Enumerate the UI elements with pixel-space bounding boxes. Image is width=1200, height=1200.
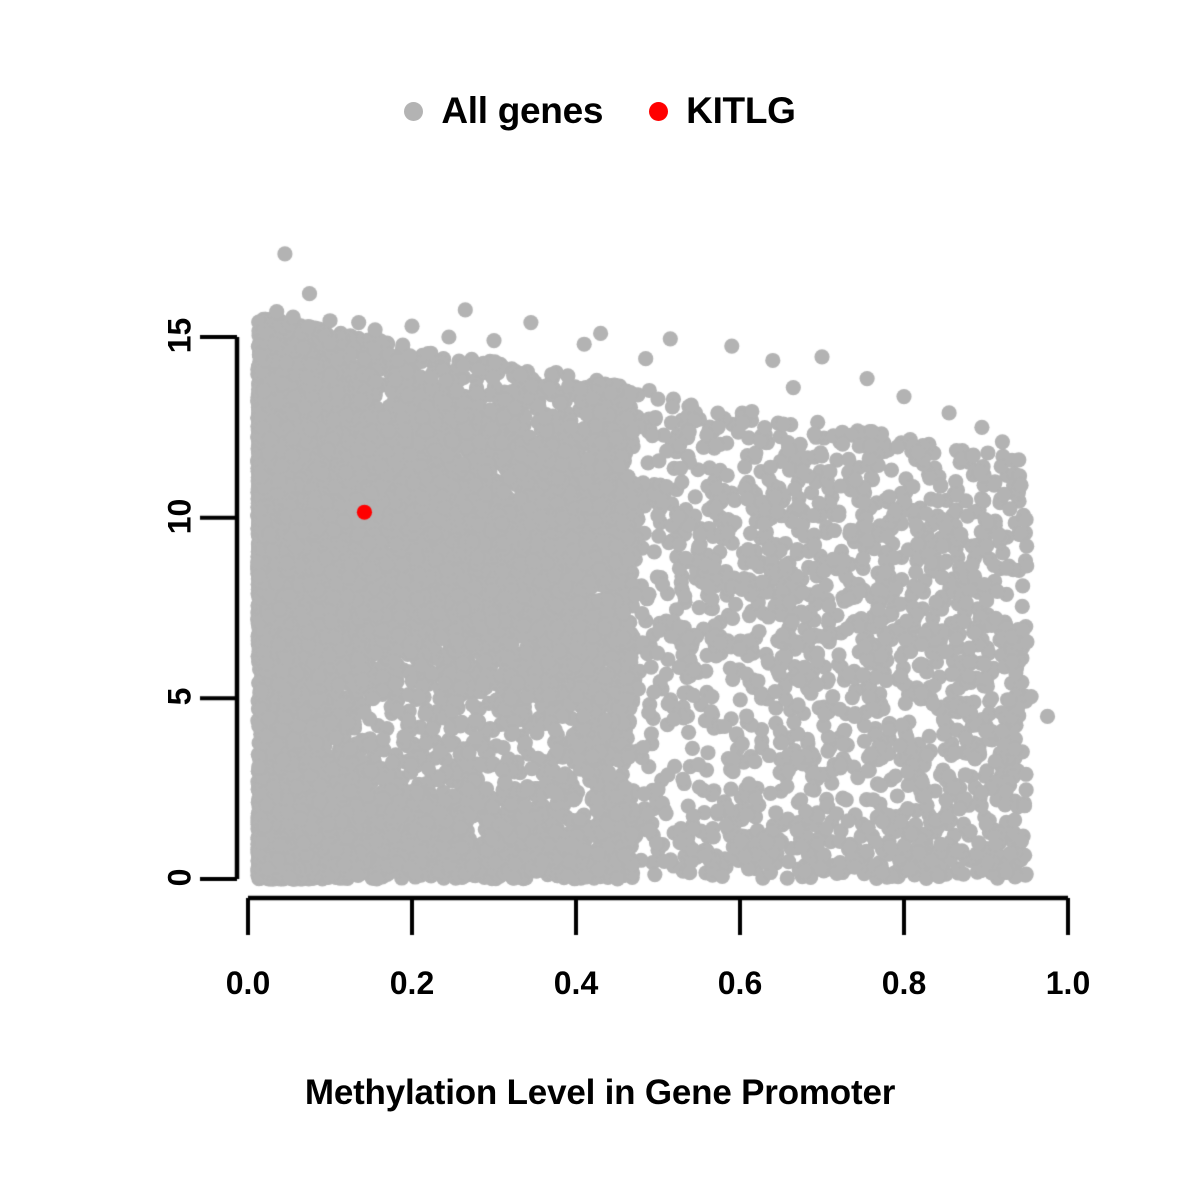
x-tick-label: 0.0	[226, 965, 270, 1002]
x-axis-title: Methylation Level in Gene Promoter	[0, 1073, 1200, 1113]
x-tick-label: 0.2	[390, 965, 434, 1002]
y-tick-label: 10	[162, 486, 199, 546]
y-tick-label: 15	[162, 306, 199, 366]
x-tick-label: 0.8	[882, 965, 926, 1002]
legend-label-kitlg: KITLG	[686, 90, 795, 132]
x-tick-label: 0.6	[718, 965, 762, 1002]
legend-entry-all-genes: All genes	[404, 90, 603, 132]
y-tick-label: 0	[162, 848, 199, 908]
y-tick-label: 5	[162, 667, 199, 727]
legend: All genes KITLG	[0, 90, 1200, 132]
legend-marker-all-genes-icon	[404, 102, 423, 121]
x-tick-label: 0.4	[554, 965, 598, 1002]
legend-marker-kitlg-icon	[649, 102, 668, 121]
scatter-plot-figure: All genes KITLG 0.00.20.40.60.81.0 05101…	[0, 0, 1200, 1200]
scatter-plot-canvas	[0, 0, 1200, 1200]
x-tick-label: 1.0	[1046, 965, 1090, 1002]
legend-entry-kitlg: KITLG	[649, 90, 795, 132]
legend-label-all-genes: All genes	[441, 90, 603, 132]
